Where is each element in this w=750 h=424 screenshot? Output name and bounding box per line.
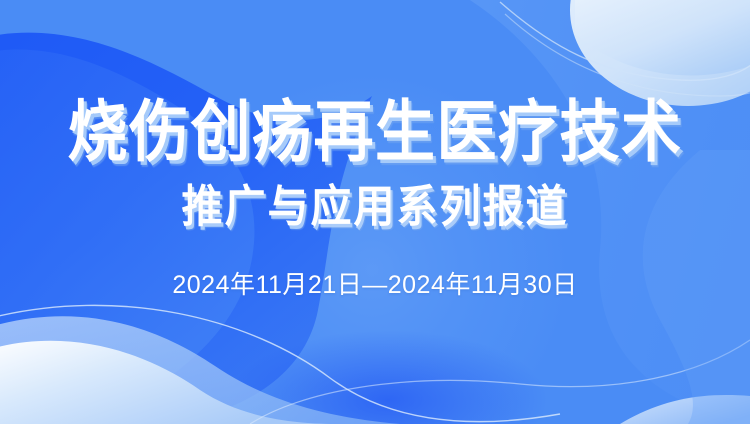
page-title: 烧伤创疡再生医疗技术 <box>68 99 683 166</box>
date-range-label: 2024年11月21日—2024年11月30日 <box>172 273 577 298</box>
page-subtitle: 推广与应用系列报道 <box>182 185 569 229</box>
banner-text-stack: 烧伤创疡再生医疗技术 推广与应用系列报道 2024年11月21日—2024年11… <box>0 0 750 424</box>
promo-banner: 烧伤创疡再生医疗技术 推广与应用系列报道 2024年11月21日—2024年11… <box>0 0 750 424</box>
